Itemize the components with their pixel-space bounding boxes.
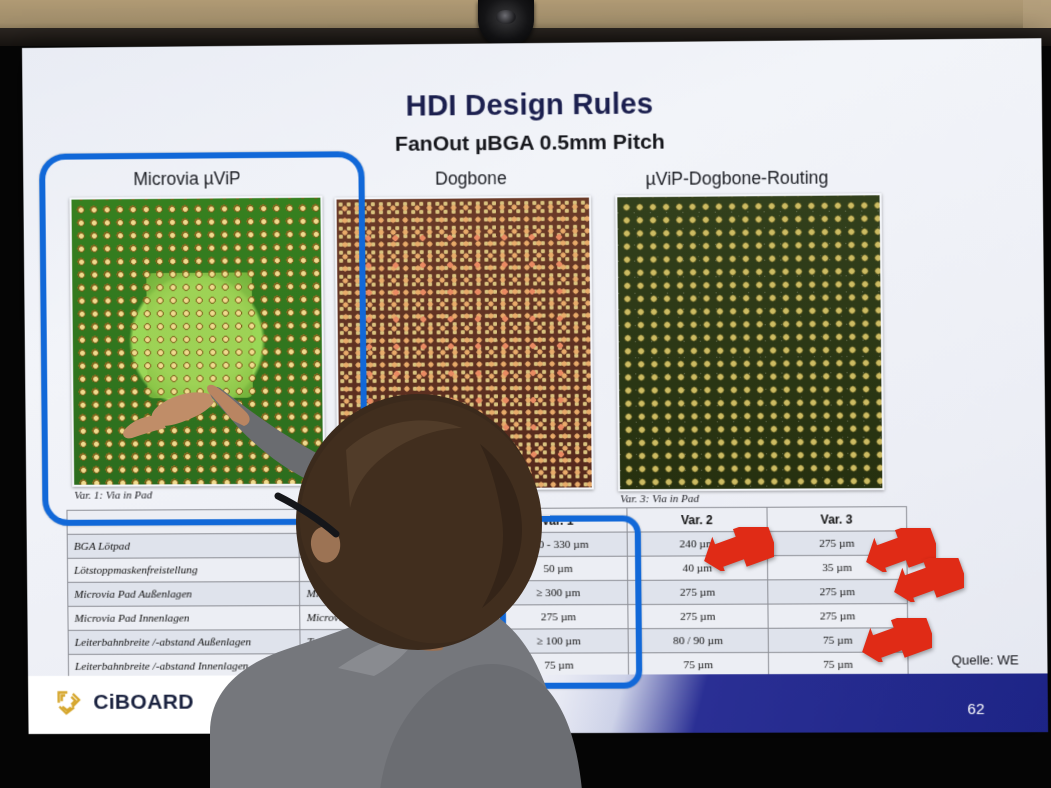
ciboard-mark-icon	[54, 688, 84, 718]
panel-heading-dogbone: Dogbone	[435, 168, 507, 190]
row-label-en: BGA Solder Pad	[299, 533, 488, 558]
row-label-de: Microvia Pad Außenlagen	[68, 582, 300, 607]
webcam-icon	[478, 0, 534, 46]
brand-logo-text: CiBOARD	[93, 691, 194, 715]
cell-var2: 275 µm	[628, 604, 768, 629]
table-row: Microvia Pad AußenlagenMicrovia Pad Oute…	[68, 579, 908, 606]
row-label-de: Microvia Pad Innenlagen	[68, 606, 300, 631]
cell-var3: 275 µm	[767, 604, 907, 629]
table-row: LötstoppmaskenfreistellungSolder Mask Cl…	[67, 555, 907, 582]
cell-var1: 300 - 330 µm	[488, 532, 627, 557]
row-label-en: Solder Mask Clearance	[300, 557, 489, 582]
header-var3: Var. 3	[767, 507, 907, 532]
cell-var3: 75 µm	[768, 628, 908, 653]
header-en	[299, 508, 488, 533]
page-number: 62	[967, 701, 984, 718]
cell-var3: 275 µm	[767, 531, 907, 556]
cell-var2: 40 µm	[628, 556, 768, 581]
pcb-via-grid	[71, 198, 323, 485]
cell-var1: ≥ 300 µm	[489, 580, 628, 605]
slide-title: HDI Design Rules	[22, 85, 1042, 127]
slide-subtitle: FanOut µBGA 0.5mm Pitch	[23, 127, 1043, 160]
row-label-en: Track Width / Spacing	[300, 629, 489, 654]
row-label-en: Microvia Pad Inner	[300, 605, 489, 630]
cell-var3: 35 µm	[767, 555, 907, 580]
panel-heading-uvip-dogbone-routing: µViP-Dogbone-Routing	[645, 167, 828, 190]
panel-heading-microvia: Microvia µViP	[133, 168, 241, 190]
header-var1: Var. 1	[488, 508, 627, 533]
table-row: BGA LötpadBGA Solder Pad300 - 330 µm240 …	[67, 531, 907, 558]
header-var2: Var. 2	[627, 507, 767, 532]
cell-var1: ≥ 100 µm	[489, 629, 628, 654]
cell-var2: 80 / 90 µm	[628, 628, 768, 653]
presentation-slide: HDI Design Rules FanOut µBGA 0.5mm Pitch…	[22, 38, 1048, 734]
design-rules-table: Var. 1 Var. 2 Var. 3 BGA LötpadBGA Solde…	[66, 506, 908, 674]
pcb-image-dogbone	[334, 196, 593, 491]
row-label-de: Leiterbahnbreite /-abstand Außenlagen	[68, 630, 300, 655]
cell-var1: 50 µm	[488, 556, 627, 581]
table-header-row: Var. 1 Var. 2 Var. 3	[67, 507, 907, 535]
row-label-en: Microvia Pad Outer	[300, 581, 489, 606]
pcb-image-uvip-dogbone-routing	[615, 193, 884, 491]
row-label-de: Lötstoppmaskenfreistellung	[67, 557, 299, 582]
pcb-image-microvia	[69, 196, 325, 487]
table-row: Microvia Pad InnenlagenMicrovia Pad Inne…	[68, 604, 908, 631]
table-body: BGA LötpadBGA Solder Pad300 - 330 µm240 …	[67, 531, 908, 679]
pcb-caption-var1: Var. 1: Via in Pad	[74, 489, 152, 501]
source-label: Quelle: WE	[952, 652, 1019, 667]
row-label-de: BGA Lötpad	[67, 533, 299, 558]
header-de	[67, 509, 299, 534]
table-row: Leiterbahnbreite /-abstand AußenlagenTra…	[68, 628, 908, 655]
pcb-dogbone-grid	[357, 224, 571, 463]
brand-logo: CiBOARD	[54, 688, 194, 718]
cell-var3: 275 µm	[767, 579, 907, 604]
cell-var2: 240 µm	[627, 531, 767, 556]
cell-var2: 275 µm	[628, 580, 768, 605]
cell-var1: 275 µm	[489, 605, 628, 630]
pcb-caption-var3: Var. 3: Via in Pad	[620, 493, 699, 505]
screenshot-root: HDI Design Rules FanOut µBGA 0.5mm Pitch…	[0, 0, 1051, 788]
